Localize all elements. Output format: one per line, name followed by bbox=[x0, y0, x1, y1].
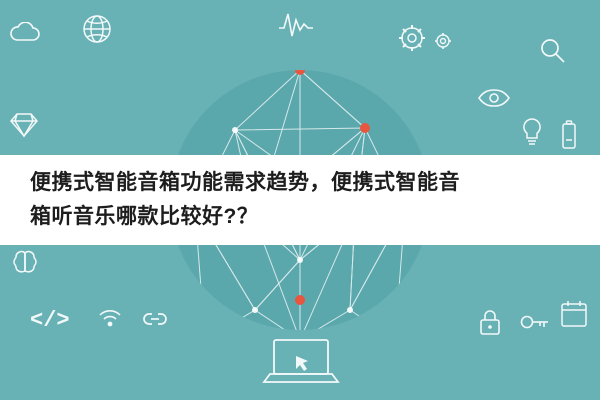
image-canvas: </> bbox=[0, 0, 600, 400]
caption-line-2: 箱听音乐哪款比较好?？ bbox=[30, 200, 570, 234]
caption-strip: 便携式智能音箱功能需求趋势，便携式智能音 箱听音乐哪款比较好?？ bbox=[0, 155, 600, 245]
caption-line-1: 便携式智能音箱功能需求趋势，便携式智能音 bbox=[30, 166, 570, 200]
